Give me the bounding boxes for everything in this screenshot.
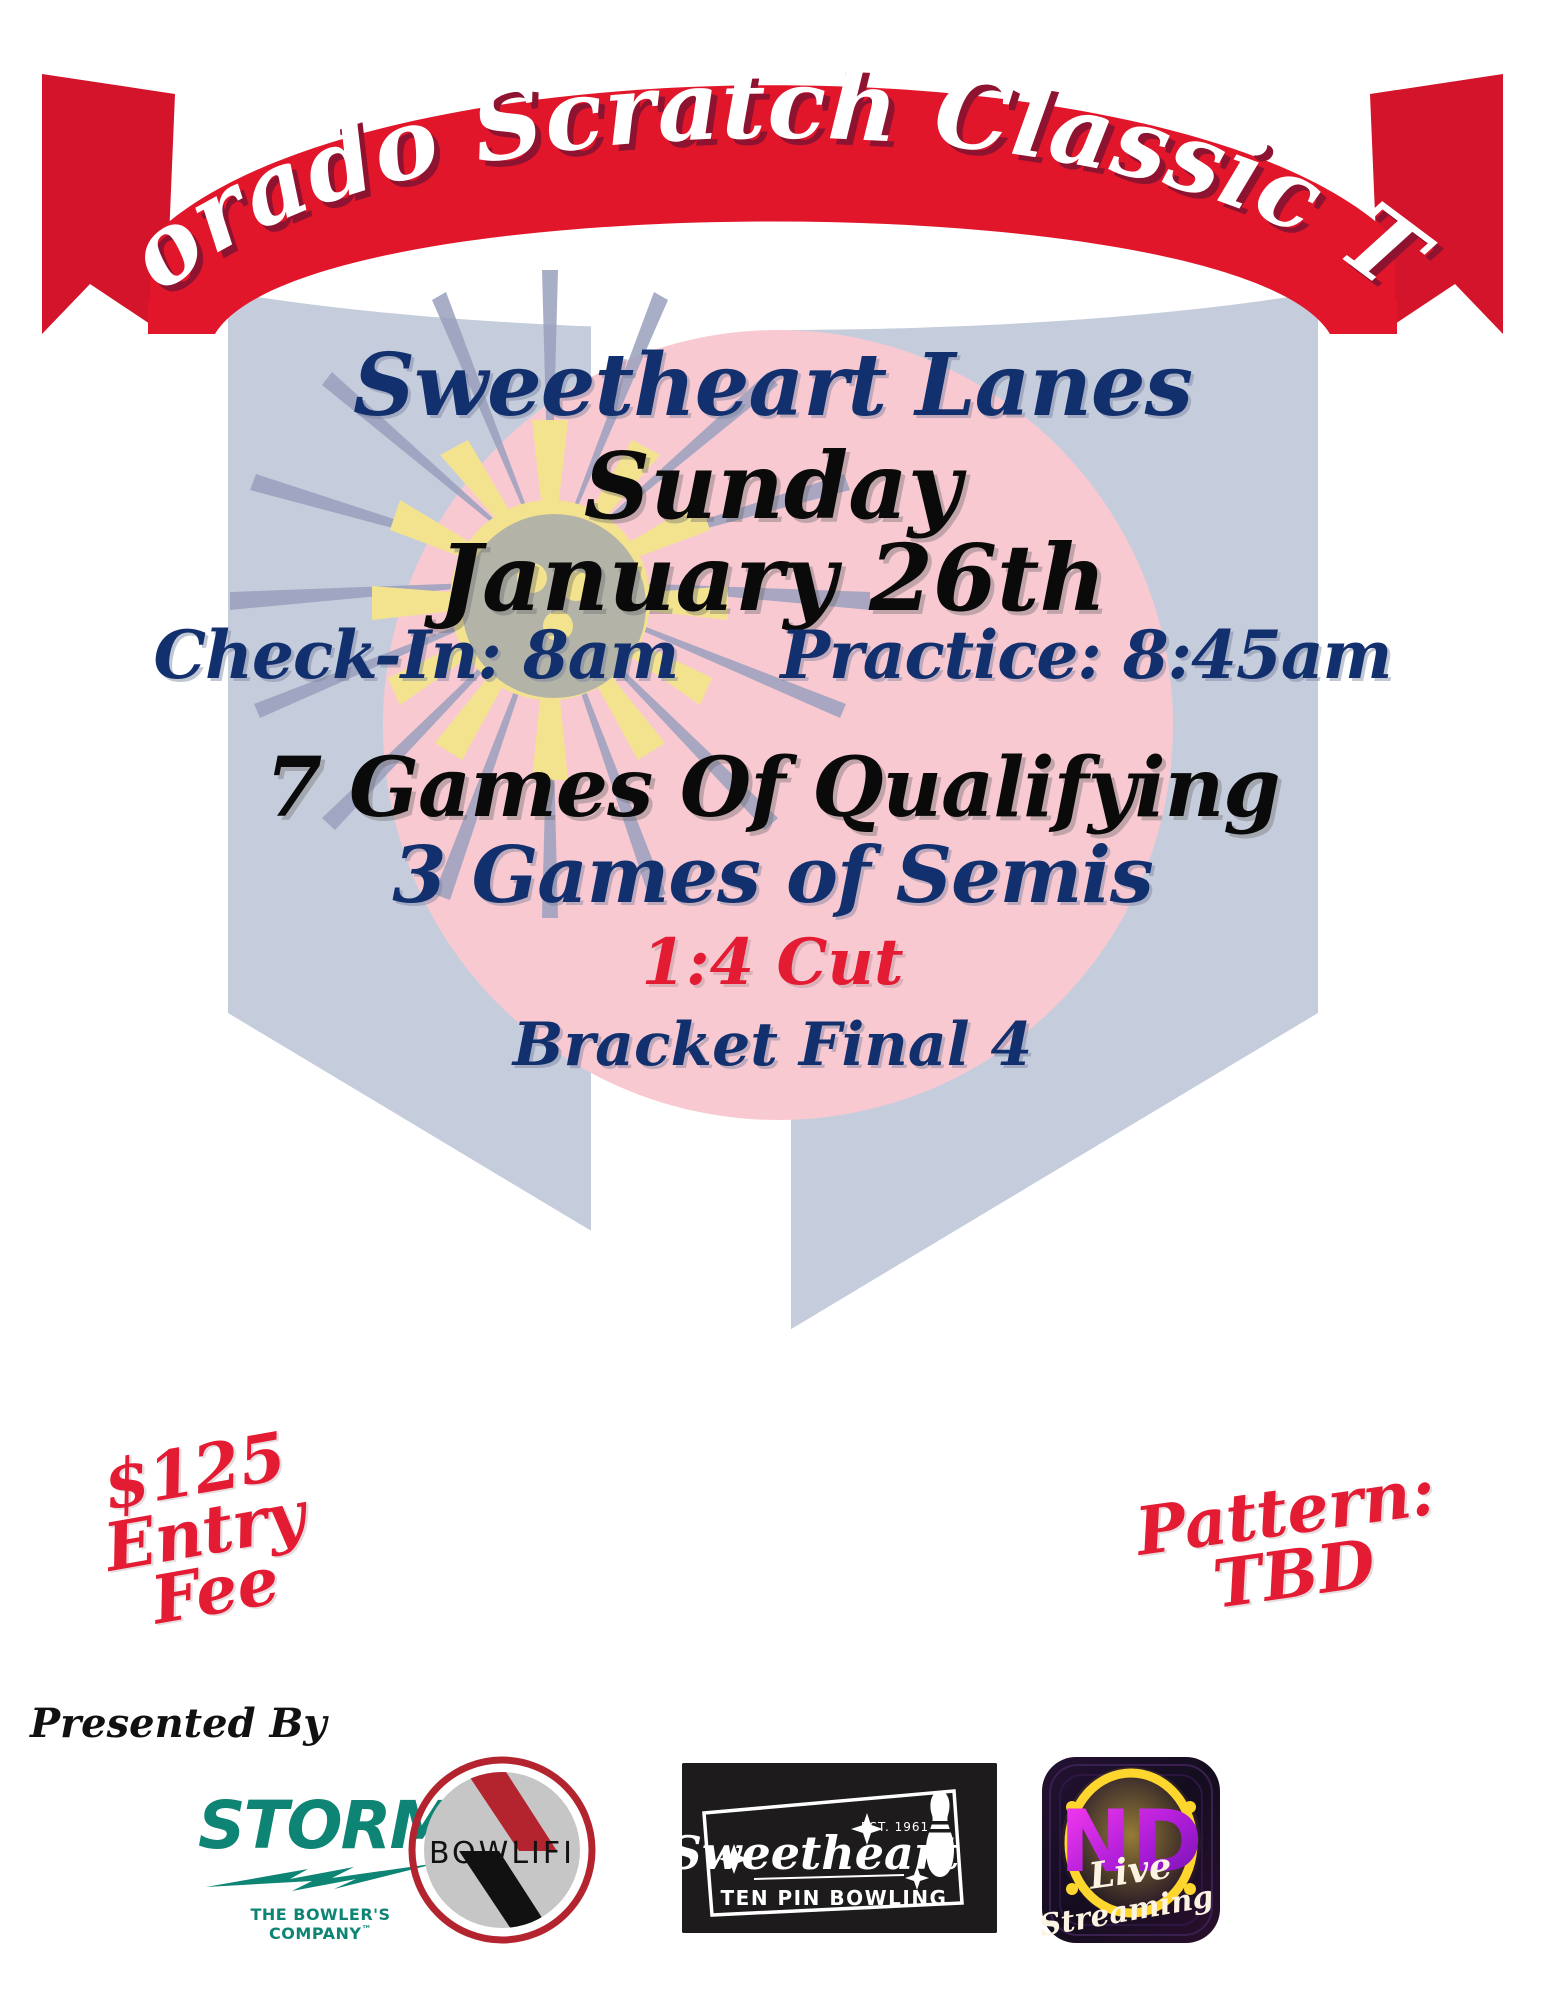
venue-name: Sweetheart Lanes bbox=[0, 335, 1545, 436]
qualifying-format: 7 Games Of Qualifying bbox=[0, 740, 1545, 836]
sweetheart-ten-pin-bowling-logo: EST. 1961 Sweetheart TEN PIN BOWLING bbox=[682, 1763, 997, 1933]
flyer-canvas: Colorado Scratch Classic Tour Colorado S… bbox=[0, 0, 1545, 2000]
check-in-time: Check-In: 8am bbox=[153, 616, 678, 694]
bowlifi-logo: BOWLIFI bbox=[407, 1755, 597, 1945]
practice-time: Practice: 8:45am bbox=[780, 616, 1391, 694]
schedule-times: Check-In: 8am Practice: 8:45am bbox=[0, 616, 1545, 694]
bowlifi-wordmark: BOWLIFI bbox=[429, 1836, 575, 1871]
semis-format: 3 Games of Semis bbox=[0, 830, 1545, 921]
storm-trademark-mark: ™ bbox=[361, 1925, 372, 1936]
bracket-format: Bracket Final 4 bbox=[0, 1010, 1545, 1080]
nd-live-streaming-logo: ND Live Streaming bbox=[1040, 1755, 1222, 1945]
sweetheart-script: Sweetheart bbox=[682, 1826, 959, 1880]
presented-by-label: Presented By bbox=[30, 1700, 327, 1747]
lightning-bolt-icon bbox=[204, 1861, 440, 1895]
sweetheart-subtitle: TEN PIN BOWLING bbox=[721, 1886, 948, 1910]
sponsor-logo-row: STORM ® THE BOWLER'S COMPANY™ bbox=[0, 1755, 1545, 1990]
cut-ratio: 1:4 Cut bbox=[0, 925, 1545, 1000]
